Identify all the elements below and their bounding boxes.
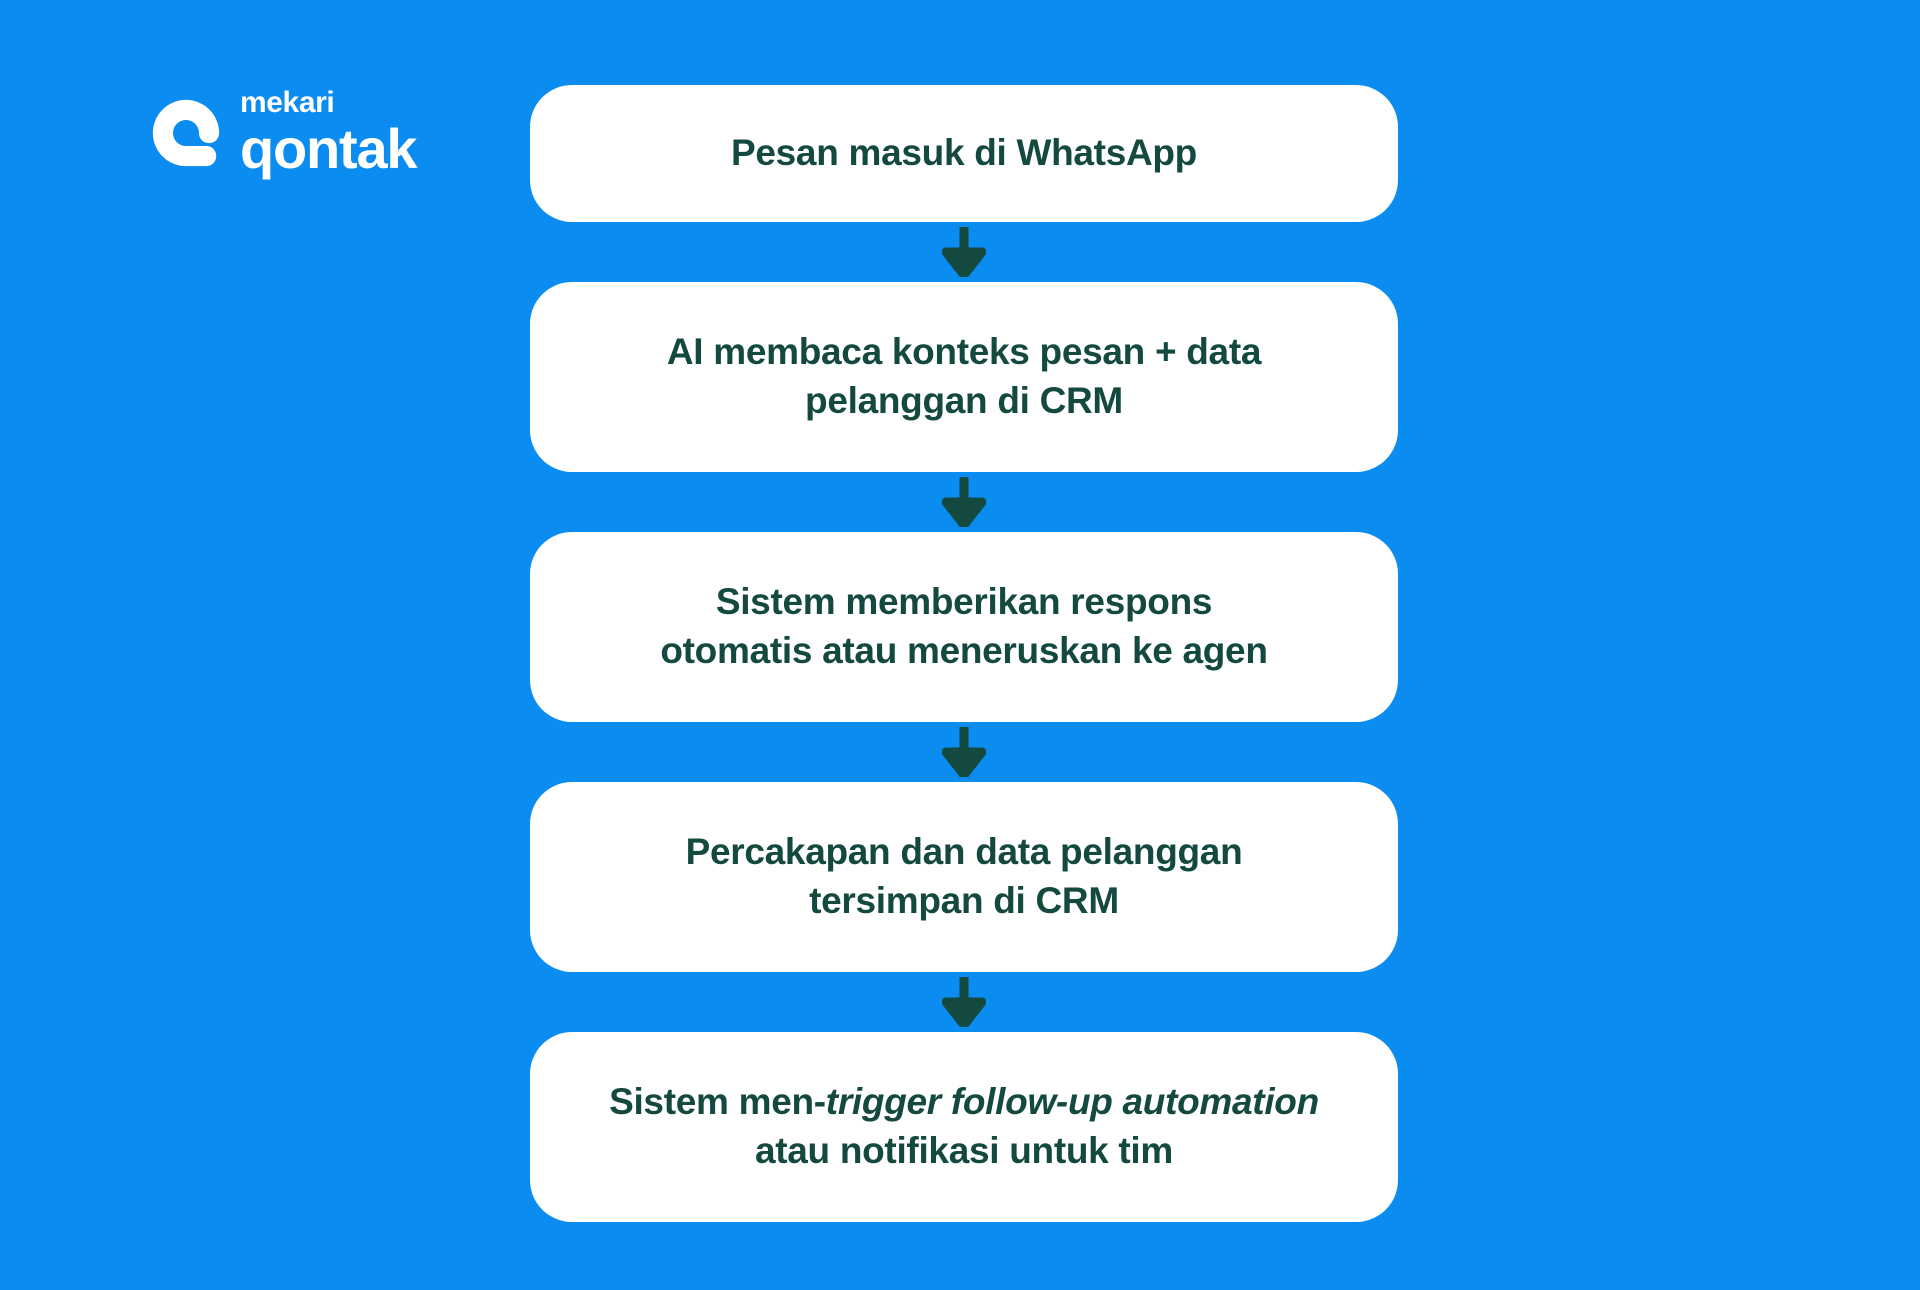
brand-wordmark: mekari qontak — [240, 88, 416, 177]
flow-node-4: Percakapan dan data pelanggan tersimpan … — [530, 782, 1398, 972]
flow-node-1-label: Pesan masuk di WhatsApp — [731, 129, 1197, 178]
flow-node-4-line-2: tersimpan di CRM — [809, 880, 1119, 921]
flow-node-5-italic: trigger follow-up automation — [826, 1081, 1319, 1122]
flow-node-2: AI membaca konteks pesan + data pelangga… — [530, 282, 1398, 472]
flow-connector-1 — [942, 222, 986, 282]
flow-node-3-line-2: otomatis atau meneruskan ke agen — [660, 630, 1267, 671]
flow-node-5-label: Sistem men-trigger follow-up automation … — [584, 1078, 1344, 1176]
flow-node-2-line-1: AI membaca konteks pesan + data — [667, 331, 1261, 372]
flow-node-5-prefix: Sistem men- — [609, 1081, 826, 1122]
flow-connector-2 — [942, 472, 986, 532]
brand-logo: mekari qontak — [150, 88, 416, 177]
flow-node-3-label: Sistem memberikan respons otomatis atau … — [660, 578, 1267, 676]
arrow-down-icon — [942, 727, 986, 777]
flow-node-5: Sistem men-trigger follow-up automation … — [530, 1032, 1398, 1222]
flow-node-4-label: Percakapan dan data pelanggan tersimpan … — [686, 828, 1243, 926]
flow-node-2-line-2: pelanggan di CRM — [805, 380, 1123, 421]
flow-node-1: Pesan masuk di WhatsApp — [530, 85, 1398, 222]
brand-name-qontak: qontak — [240, 120, 416, 177]
flowchart: Pesan masuk di WhatsApp AI membaca konte… — [530, 85, 1398, 1222]
mekari-qontak-logo-mark-icon — [150, 97, 222, 169]
flow-node-3-line-1: Sistem memberikan respons — [716, 581, 1212, 622]
flow-node-4-line-1: Percakapan dan data pelanggan — [686, 831, 1243, 872]
flow-connector-3 — [942, 722, 986, 782]
flow-node-3: Sistem memberikan respons otomatis atau … — [530, 532, 1398, 722]
flow-node-2-label: AI membaca konteks pesan + data pelangga… — [667, 328, 1261, 426]
arrow-down-icon — [942, 227, 986, 277]
arrow-down-icon — [942, 977, 986, 1027]
flow-node-5-suffix: atau notifikasi untuk tim — [755, 1130, 1173, 1171]
arrow-down-icon — [942, 477, 986, 527]
brand-name-mekari: mekari — [240, 88, 334, 118]
flow-connector-4 — [942, 972, 986, 1032]
